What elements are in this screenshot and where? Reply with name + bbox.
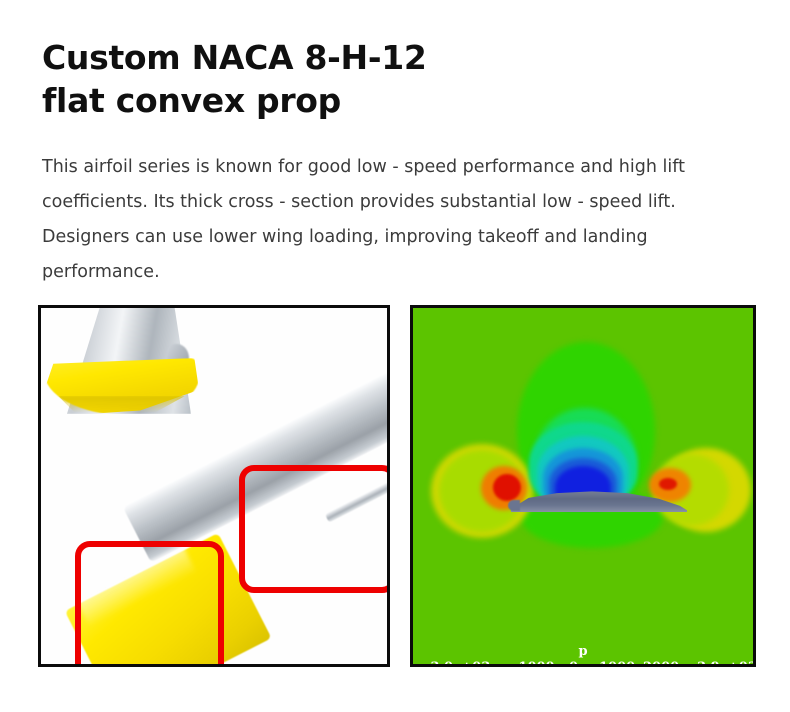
figure-row: p -3.0e+03 -1000 0 1000 2000 3.9e+03 bbox=[0, 303, 790, 675]
leading-edge-stagnation-core bbox=[493, 474, 521, 501]
colorbar-tick-3: 1000 bbox=[599, 660, 635, 667]
annotation-rect-shaft[interactable] bbox=[239, 465, 390, 593]
page-title: Custom NACA 8-H-12 flat convex prop bbox=[42, 36, 742, 122]
colorbar-tick-0: -3.0e+03 bbox=[425, 660, 490, 667]
cfd-contour-panel[interactable]: p -3.0e+03 -1000 0 1000 2000 3.9e+03 bbox=[410, 305, 756, 667]
colorbar-tick-2: 0 bbox=[569, 660, 578, 667]
colorbar-tick-4: 2000 bbox=[643, 660, 679, 667]
colorbar-tick-labels: -3.0e+03 -1000 0 1000 2000 3.9e+03 bbox=[421, 660, 751, 667]
description-paragraph: This airfoil series is known for good lo… bbox=[42, 150, 714, 290]
colorbar-variable-label: p bbox=[413, 644, 753, 659]
trailing-edge-stagnation-core bbox=[659, 478, 677, 490]
propeller-photo-panel[interactable] bbox=[38, 305, 390, 667]
colorbar-tick-5: 3.9e+03 bbox=[697, 660, 756, 667]
page-root: Custom NACA 8-H-12 flat convex prop This… bbox=[0, 0, 790, 712]
airfoil-leading-edge bbox=[508, 500, 520, 511]
photo-canvas bbox=[41, 308, 387, 664]
pressure-field bbox=[413, 308, 753, 664]
colorbar-tick-1: -1000 bbox=[513, 660, 555, 667]
annotation-rect-tip[interactable] bbox=[75, 541, 224, 667]
cfd-canvas: p -3.0e+03 -1000 0 1000 2000 3.9e+03 bbox=[413, 308, 753, 664]
